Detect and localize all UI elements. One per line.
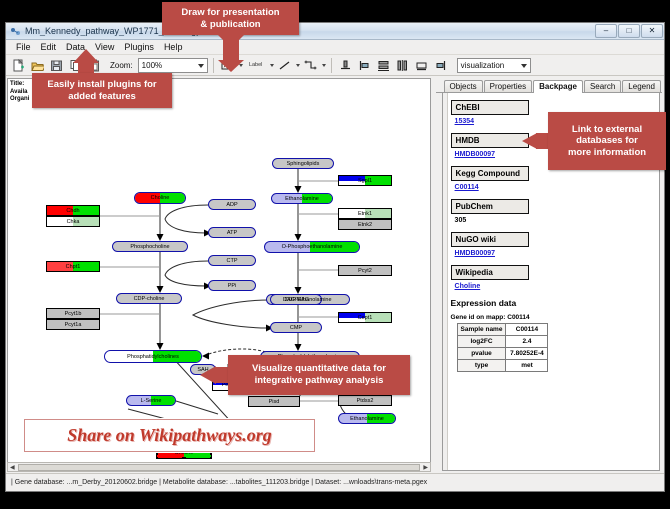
node-label: CDP-choline [134,296,165,302]
size-common-icon[interactable] [413,57,430,74]
row-key: pvalue [457,348,506,360]
align-top-icon[interactable] [337,57,354,74]
node-ethanolamine-bottom[interactable]: Ethanolamine [338,413,396,424]
row-key: log2FC [457,336,506,348]
label-icon[interactable]: Label [245,57,267,74]
draw-callout-arrowhead-icon [218,60,244,72]
node-atp[interactable]: ATP [208,227,256,238]
node-phosphatidylcholines[interactable]: Phosphatidylcholines [104,350,202,363]
pathway-canvas[interactable]: Title: Availa Organi [7,78,431,471]
node-label: Chka [67,219,80,225]
resize-handle-sw[interactable] [156,457,158,459]
table-row: log2FC 2.4 [457,336,548,348]
pubchem-value: 305 [455,217,659,224]
node-label: Sphingolipids [287,161,320,167]
visualize-callout: Visualize quantitative data for integrat… [228,355,410,395]
callout-line-1: Easily install plugins for [47,79,156,91]
table-row: Sample name C00114 [457,324,548,336]
share-banner-text: Share on Wikipathways.org [67,425,272,446]
callout-line-2: databases for [576,135,638,147]
toolbar-separator [331,58,332,73]
node-ppi[interactable]: PPi [208,280,256,291]
side-panel-tabs: Objects Properties Backpage Search Legen… [436,78,662,93]
menu-file[interactable]: File [11,42,36,52]
connector-icon[interactable] [302,57,319,74]
node-label: Ethanolamine [350,416,384,422]
scroll-left-icon[interactable]: ◀ [8,464,17,471]
statusbar-text: | Gene database: ...m_Derby_20120602.bri… [11,479,427,486]
line-icon[interactable] [276,57,293,74]
node-label: Ethanolamine [285,196,319,202]
zoom-label: Zoom: [110,61,133,70]
row-value: 7.80252E-4 [506,348,548,360]
pathvisio-app-icon [10,26,21,37]
node-cmp[interactable]: CMP [270,322,322,333]
node-label: Pcyt1b [65,311,82,317]
callout-line-3: more information [568,147,646,159]
node-o-phosphoethanolamine[interactable]: O-Phosphoethanolamine [264,241,360,253]
node-ptdss2[interactable]: Ptdss2 [338,395,392,406]
node-ethanolamine-top[interactable]: Ethanolamine [271,193,333,204]
tab-search[interactable]: Search [584,80,621,92]
node-label: O-Phosphoethanolamine [282,244,343,250]
node-l-serine-left[interactable]: L-Serine [126,395,176,406]
nugo-header: NuGO wiki [451,232,529,247]
new-file-icon[interactable] [10,57,27,74]
visualization-value: visualization [461,61,505,70]
align-right-icon[interactable] [432,57,449,74]
node-label: L-Serine [141,398,162,404]
tab-backpage[interactable]: Backpage [533,80,583,93]
kegg-link[interactable]: C00114 [455,184,659,191]
open-folder-icon[interactable] [29,57,46,74]
chevron-down-icon[interactable] [270,64,274,67]
callout-line-2: integrative pathway analysis [255,375,384,387]
scroll-thumb[interactable] [18,464,421,471]
plugins-callout-arrowhead-icon [73,49,99,63]
node-label: Sgpl1 [358,178,372,184]
callout-line-2: added features [68,91,136,103]
menu-plugins[interactable]: Plugins [119,42,159,52]
minimize-button[interactable]: – [595,24,617,38]
node-label: Choline [151,195,170,201]
chevron-down-icon[interactable] [322,64,326,67]
resize-handle-se[interactable] [210,457,212,459]
menubar: File Edit Data View Plugins Help [6,40,664,55]
close-button[interactable]: ✕ [641,24,663,38]
node-etnk1[interactable]: Etnk1 [338,208,392,219]
distribute-vertical-icon[interactable] [375,57,392,74]
zoom-combobox[interactable]: 100% [138,58,208,73]
visualization-combobox[interactable]: visualization [457,58,531,73]
node-label: ADP [226,202,237,208]
row-value: C00114 [506,324,548,336]
tab-properties[interactable]: Properties [484,80,532,92]
chebi-header: ChEBI [451,100,529,115]
node-choline-top[interactable]: Choline [134,192,186,204]
row-key: type [457,360,506,372]
nugo-link[interactable]: HMDB00097 [455,250,659,257]
toolbar-separator [213,58,214,73]
node-label: CMP [290,325,302,331]
node-cdp-choline[interactable]: CDP-choline [116,293,182,304]
row-value: 2.4 [506,336,548,348]
screenshot-root: Mm_Kennedy_pathway_WP1771_45176.gpml – □… [0,0,670,509]
wikipedia-link[interactable]: Choline [455,283,659,290]
tab-objects[interactable]: Objects [444,80,483,92]
zoom-value: 100% [142,61,162,70]
node-label: ATP [227,230,237,236]
draw-callout: Draw for presentation & publication [162,2,299,35]
callout-line-1: Link to external [572,124,642,136]
callout-line-1: Draw for presentation [181,7,279,19]
node-pcyt1a[interactable]: Pcyt1a [46,319,100,330]
table-row: pvalue 7.80252E-4 [457,348,548,360]
chevron-down-icon[interactable] [296,64,300,67]
scroll-right-icon[interactable]: ▶ [421,464,430,471]
link-callout-arrowhead-icon [522,133,537,149]
visualize-callout-arrowhead-icon [200,366,216,384]
link-callout: Link to external databases for more info… [548,112,666,170]
canvas-horizontal-scrollbar[interactable]: ◀ ▶ [7,462,431,472]
node-label: PPi [228,283,237,289]
chevron-down-icon [198,64,204,68]
node-sphingolipids[interactable]: Sphingolipids [272,158,334,169]
node-label: Phosphatidylcholines [127,354,179,360]
node-label: Etnk2 [358,222,372,228]
node-phosphocholine[interactable]: Phosphocholine [112,241,188,252]
row-key: Sample name [457,324,506,336]
expression-table: Sample name C00114 log2FC 2.4 pvalue 7.8… [457,323,549,372]
node-label: Pcyt1a [65,322,82,328]
menu-edit[interactable]: Edit [36,42,62,52]
node-etnk2[interactable]: Etnk2 [338,219,392,230]
statusbar: | Gene database: ...m_Derby_20120602.bri… [6,473,664,491]
node-label: Etnk1 [358,211,372,217]
label-text: Label [249,62,262,68]
plugins-callout: Easily install plugins for added feature… [32,73,172,108]
node-label: DAG/MAG [283,297,309,303]
align-left-icon[interactable] [356,57,373,74]
node-label: CTP [227,258,238,264]
node-label: Chdh [66,208,79,214]
node-chdh[interactable]: Chdh [46,205,100,216]
node-label: Chpt1 [66,264,81,270]
maximize-button[interactable]: □ [618,24,640,38]
pubchem-header: PubChem [451,199,529,214]
expression-data-title: Expression data [451,298,659,308]
hmdb-header: HMDB [451,133,529,148]
node-label: Ptdss2 [357,398,374,404]
node-pisd[interactable]: Pisd [248,396,300,407]
callout-line-2: & publication [200,19,260,31]
node-adp[interactable]: ADP [208,199,256,210]
node-label: Phosphocholine [130,244,169,250]
node-ctp[interactable]: CTP [208,255,256,266]
node-chka[interactable]: Chka [46,216,100,227]
window-buttons: – □ ✕ [595,24,664,38]
node-pcyt2[interactable]: Pcyt2 [338,265,392,276]
resize-handle-s[interactable] [182,457,186,459]
gene-id-line: Gene id on mapp: C00114 [451,314,659,321]
menu-help[interactable]: Help [159,42,188,52]
node-sgpl1[interactable]: Sgpl1 [338,175,392,186]
node-pcyt1b[interactable]: Pcyt1b [46,308,100,319]
node-cept1[interactable]: Cept1 [338,312,392,323]
backpage-scrollbar[interactable] [443,93,448,470]
node-label: Pisd [269,399,280,405]
callout-line-1: Visualize quantitative data for [252,363,386,375]
node-label: Pcyt2 [358,268,372,274]
share-banner: Share on Wikipathways.org [24,419,315,452]
kegg-header: Kegg Compound [451,166,529,181]
node-label: Cept1 [358,315,373,321]
node-chpt1[interactable]: Chpt1 [46,261,100,272]
table-row: type met [457,360,548,372]
distribute-horizontal-icon[interactable] [394,57,411,74]
row-value: met [506,360,548,372]
chevron-down-icon [521,64,527,68]
tab-legend[interactable]: Legend [622,80,661,92]
window-titlebar: Mm_Kennedy_pathway_WP1771_45176.gpml – □… [6,23,664,40]
save-icon[interactable] [48,57,65,74]
draw-callout-arrow-icon [218,35,244,48]
wikipedia-header: Wikipedia [451,265,529,280]
